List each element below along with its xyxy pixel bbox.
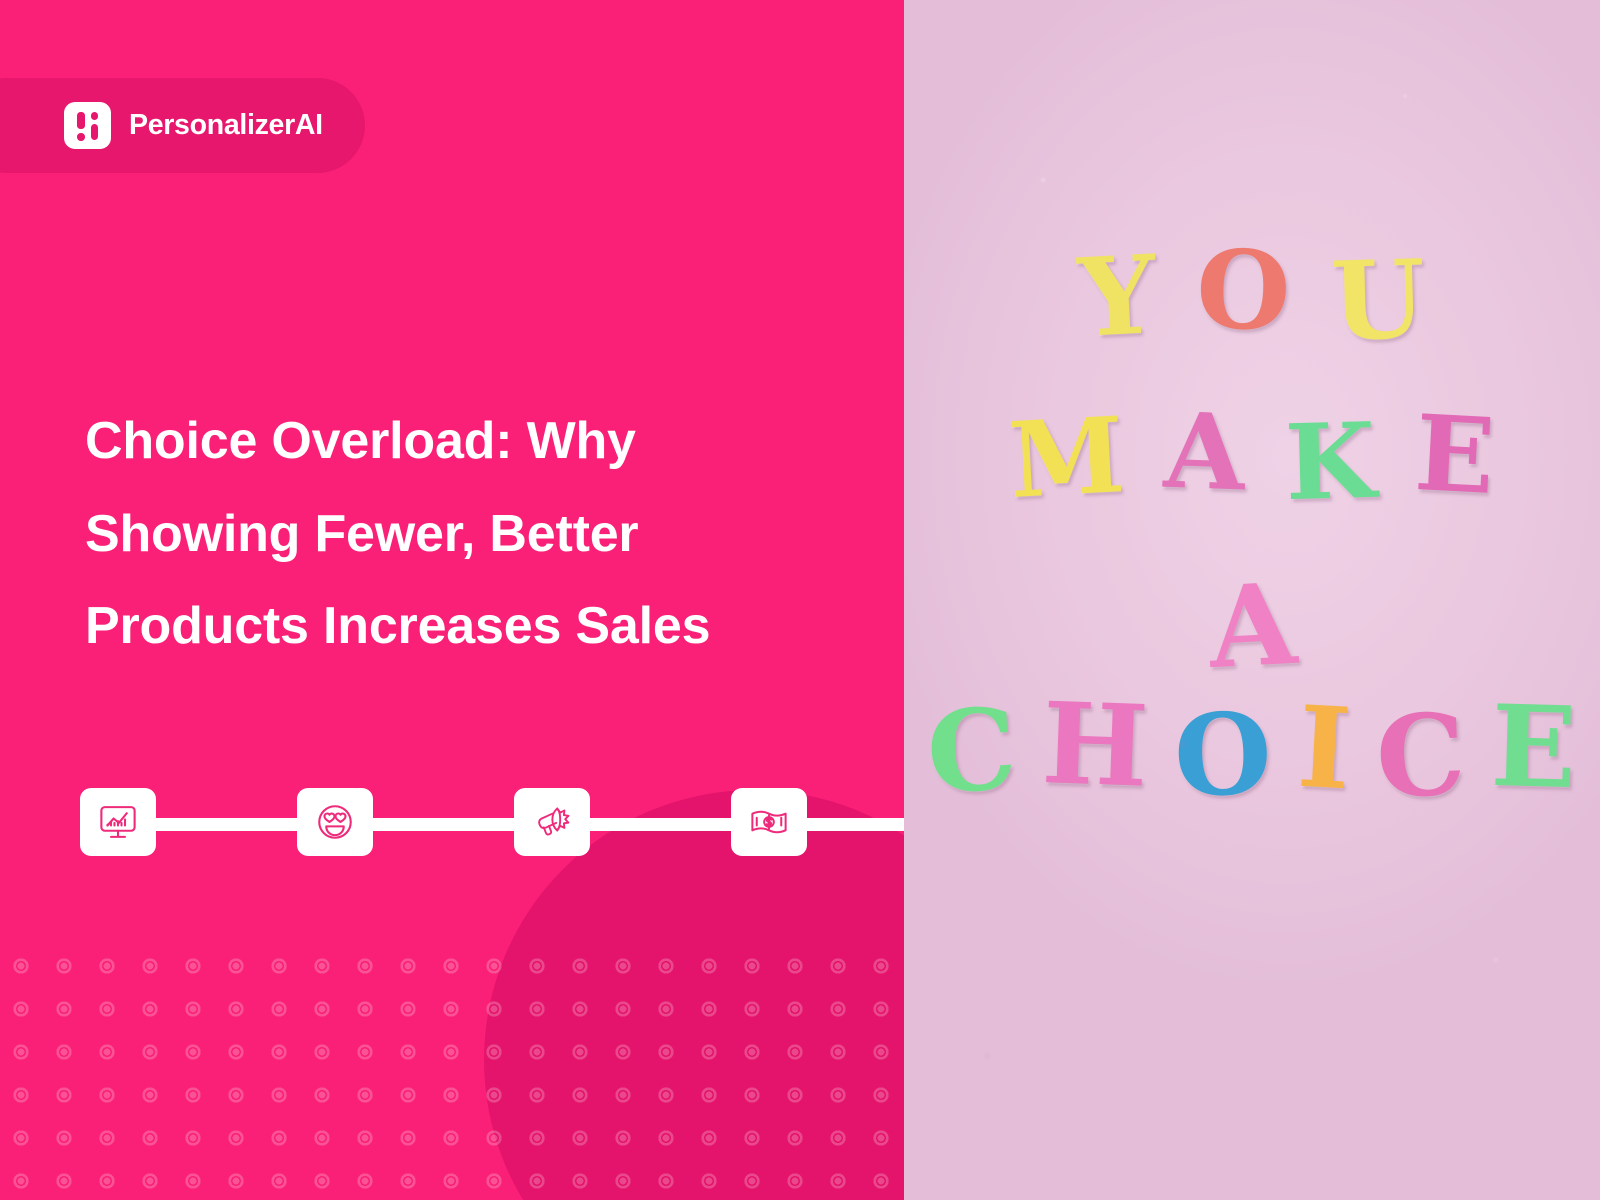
- foam-letter-choice-5: E: [1490, 695, 1578, 800]
- content-panel: PersonalizerAI Choice Overload: Why Show…: [0, 0, 904, 1200]
- foam-letter-you-1: O: [1195, 240, 1292, 343]
- foam-letter-make-2: K: [1284, 413, 1377, 511]
- photo-panel: YOU MAKE A CHOICE: [904, 0, 1600, 1200]
- foam-letter-choice-2: O: [1173, 703, 1273, 809]
- foam-word-you: YOU: [904, 248, 1600, 347]
- exclamation-i-mark-icon: [64, 102, 111, 149]
- foam-letter-make-0: M: [1007, 407, 1127, 509]
- monitor-analytics-icon[interactable]: [80, 788, 156, 856]
- foam-letter-choice-1: H: [1041, 692, 1150, 799]
- foam-letter-choice-3: I: [1295, 696, 1353, 802]
- foam-letter-choice-4: C: [1375, 703, 1468, 809]
- headline-line-3: Products Increases Sales: [85, 597, 710, 655]
- headline-line-2: Showing Fewer, Better: [85, 505, 638, 563]
- foam-word-make: MAKE: [904, 410, 1600, 506]
- page-title: Choice Overload: Why Showing Fewer, Bett…: [85, 395, 845, 673]
- foam-word-choice: CHOICE: [904, 700, 1600, 803]
- foam-letter-you-0: Y: [1077, 246, 1159, 349]
- money-banknote-icon[interactable]: [731, 788, 807, 856]
- foam-letter-make-1: A: [1163, 403, 1247, 501]
- heart-eyes-smiley-icon[interactable]: [297, 788, 373, 856]
- brand-logo[interactable]: PersonalizerAI: [0, 78, 365, 173]
- megaphone-icon[interactable]: [514, 788, 590, 856]
- cover-canvas: YOU MAKE A CHOICE PersonalizerAI Choice …: [0, 0, 1600, 1200]
- foam-letter-a-0: A: [1206, 573, 1298, 680]
- decor-dot-pattern: [0, 955, 904, 1200]
- foam-letter-make-3: E: [1413, 405, 1497, 505]
- headline-line-1: Choice Overload: Why: [85, 412, 636, 470]
- foam-word-a: A: [904, 575, 1600, 678]
- brand-name: PersonalizerAI: [129, 109, 323, 142]
- foam-letter-you-2: U: [1329, 251, 1426, 353]
- foam-letter-choice-0: C: [925, 698, 1019, 806]
- icon-strip: [80, 788, 904, 856]
